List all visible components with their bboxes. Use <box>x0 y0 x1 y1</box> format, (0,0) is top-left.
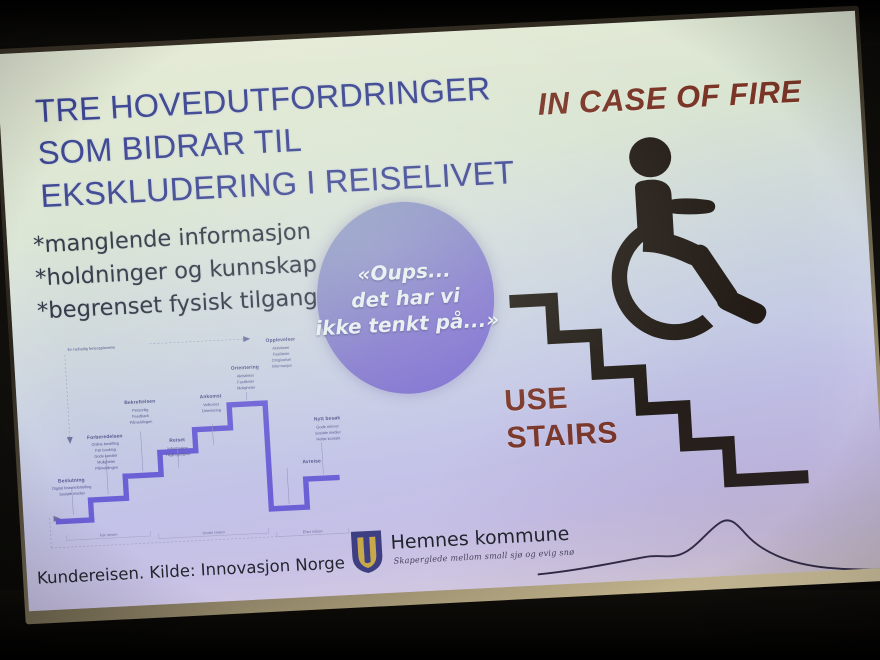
stage-label-3: Reiset <box>169 437 185 444</box>
svg-text:Sosiale medier: Sosiale medier <box>59 490 86 496</box>
svg-text:Velkomst: Velkomst <box>203 401 220 407</box>
use-stairs-label: USE STAIRS <box>503 376 667 457</box>
stage-label-8: Nytt besøk <box>314 415 341 422</box>
svg-text:Feedback: Feedback <box>132 413 149 419</box>
svg-text:Aktiviteter: Aktiviteter <box>272 345 290 351</box>
svg-text:Tilgjengelighet: Tilgjengelighet <box>165 451 191 457</box>
hemnes-shield-icon <box>350 529 385 575</box>
svg-text:Påmeldingen: Påmeldingen <box>129 419 152 425</box>
stage-label-4: Ankomst <box>199 393 222 400</box>
stage-label-2: Bekreftelsen <box>124 399 155 407</box>
quote-text: «Oups... det har vi ikke tenkt på...» <box>311 254 499 341</box>
svg-text:Orientering: Orientering <box>202 407 222 413</box>
svg-text:Digital historiefortelling: Digital historiefortelling <box>52 484 91 491</box>
stage-label-6: Opplevelser <box>265 336 295 343</box>
svg-text:Påmeldingen: Påmeldingen <box>95 465 118 471</box>
phase-label-1: Under reisen <box>202 529 225 535</box>
chart-stage-labels: Beslutning Digital historiefortelling So… <box>44 334 345 497</box>
phase-label-2: Etter reisen <box>303 528 323 534</box>
chart-subtitle: En helhetlig ferieopplevelse <box>67 345 115 352</box>
svg-text:Fasiliteter: Fasiliteter <box>273 351 291 357</box>
presentation-slide: TRE HOVEDUTFORDRINGER SOM BIDRAR TIL EKS… <box>0 11 880 612</box>
svg-text:Muligheter: Muligheter <box>237 385 256 391</box>
svg-text:Personlig: Personlig <box>132 407 149 413</box>
svg-text:Muligheter: Muligheter <box>97 459 116 465</box>
svg-text:Aktiviteter: Aktiviteter <box>237 373 255 379</box>
phase-label-0: Før reisen <box>100 532 118 538</box>
svg-text:Informasjon: Informasjon <box>272 363 293 369</box>
stage-label-7: Avreise <box>302 458 321 465</box>
hemnes-kommune-logo: Hemnes kommune Skaperglede mellom small … <box>350 519 543 591</box>
svg-text:Fasiliteter: Fasiliteter <box>237 379 255 385</box>
svg-text:Holde kontakt: Holde kontakt <box>316 435 341 441</box>
photograph-of-presentation-screen: TRE HOVEDUTFORDRINGER SOM BIDRAR TIL EKS… <box>0 0 880 660</box>
stage-label-5: Orientering <box>231 364 259 371</box>
fire-sign-heading: IN CASE OF FIRE <box>504 72 836 125</box>
projection-screen: TRE HOVEDUTFORDRINGER SOM BIDRAR TIL EKS… <box>0 11 880 614</box>
customer-journey-chart: En helhetlig ferieopplevelse <box>31 325 364 566</box>
page-title: TRE HOVEDUTFORDRINGER SOM BIDRAR TIL EKS… <box>34 68 491 217</box>
